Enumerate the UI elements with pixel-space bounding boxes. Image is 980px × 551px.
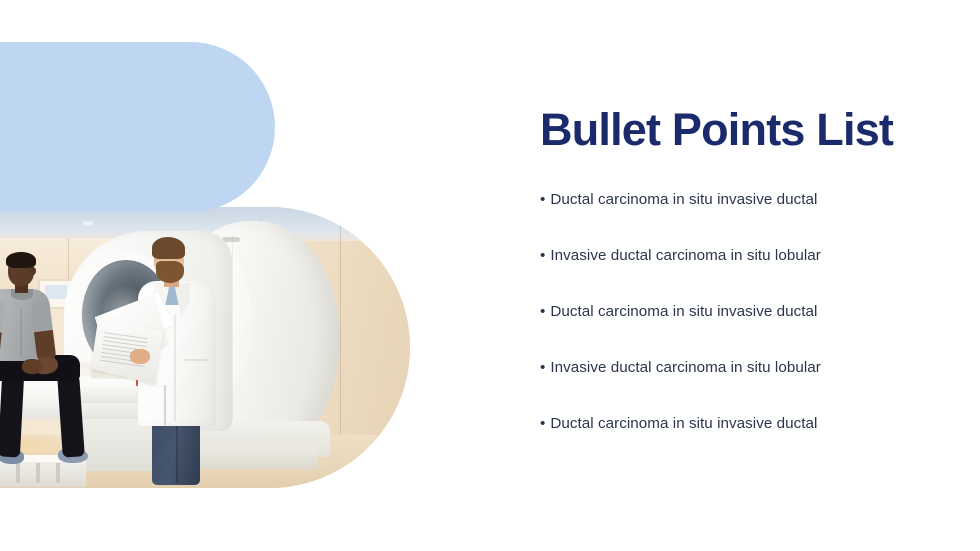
slide-canvas: Bullet Points List • Ductal carcinoma in… [0,0,980,551]
list-item: • Ductal carcinoma in situ invasive duct… [540,190,940,246]
doctor-beard [156,261,184,283]
list-item: • Invasive ductal carcinoma in situ lobu… [540,246,940,302]
doctor-hair [152,237,185,259]
doctor-jeans-seam [176,425,178,483]
photo-scene [0,207,410,488]
mri-room-photo [0,207,410,488]
wall-seam [340,217,341,457]
step-stool-slat [56,463,60,483]
doctor-coat-seam [174,315,176,421]
bullet-dot-icon: • [540,414,545,435]
blue-pill-shape [0,42,275,212]
list-item-label: Invasive ductal carcinoma in situ lobula… [550,358,821,379]
doctor-hand [130,349,150,364]
doctor-coat-vent [164,385,166,425]
list-item-label: Invasive ductal carcinoma in situ lobula… [550,246,821,267]
bullet-dot-icon: • [540,358,545,379]
list-item-label: Ductal carcinoma in situ invasive ductal [550,190,817,211]
list-item: • Ductal carcinoma in situ invasive duct… [540,302,940,358]
doctor-coat-pocket [184,359,208,361]
bullet-dot-icon: • [540,302,545,323]
patient-ear [30,267,36,275]
step-stool-slat [36,463,40,483]
left-visual-group [0,0,440,551]
list-item-label: Ductal carcinoma in situ invasive ductal [550,302,817,323]
patient-shirt-fold [20,307,22,357]
bullet-dot-icon: • [540,246,545,267]
text-content-group: Bullet Points List • Ductal carcinoma in… [540,0,940,551]
step-stool-slat [16,463,20,483]
patient-hand [22,359,42,374]
list-item-label: Ductal carcinoma in situ invasive ductal [550,414,817,435]
list-item: • Invasive ductal carcinoma in situ lobu… [540,358,940,414]
list-item: • Ductal carcinoma in situ invasive duct… [540,414,940,470]
mri-scanner-seam [232,235,233,435]
mri-scanner-base-lower [196,447,318,469]
ceiling-light-icon [82,221,94,226]
bullet-points-list: • Ductal carcinoma in situ invasive duct… [540,190,940,470]
page-title: Bullet Points List [540,106,893,155]
wall-picture-frame-inner [45,285,67,299]
bullet-dot-icon: • [540,190,545,211]
patient-hair [6,252,36,268]
